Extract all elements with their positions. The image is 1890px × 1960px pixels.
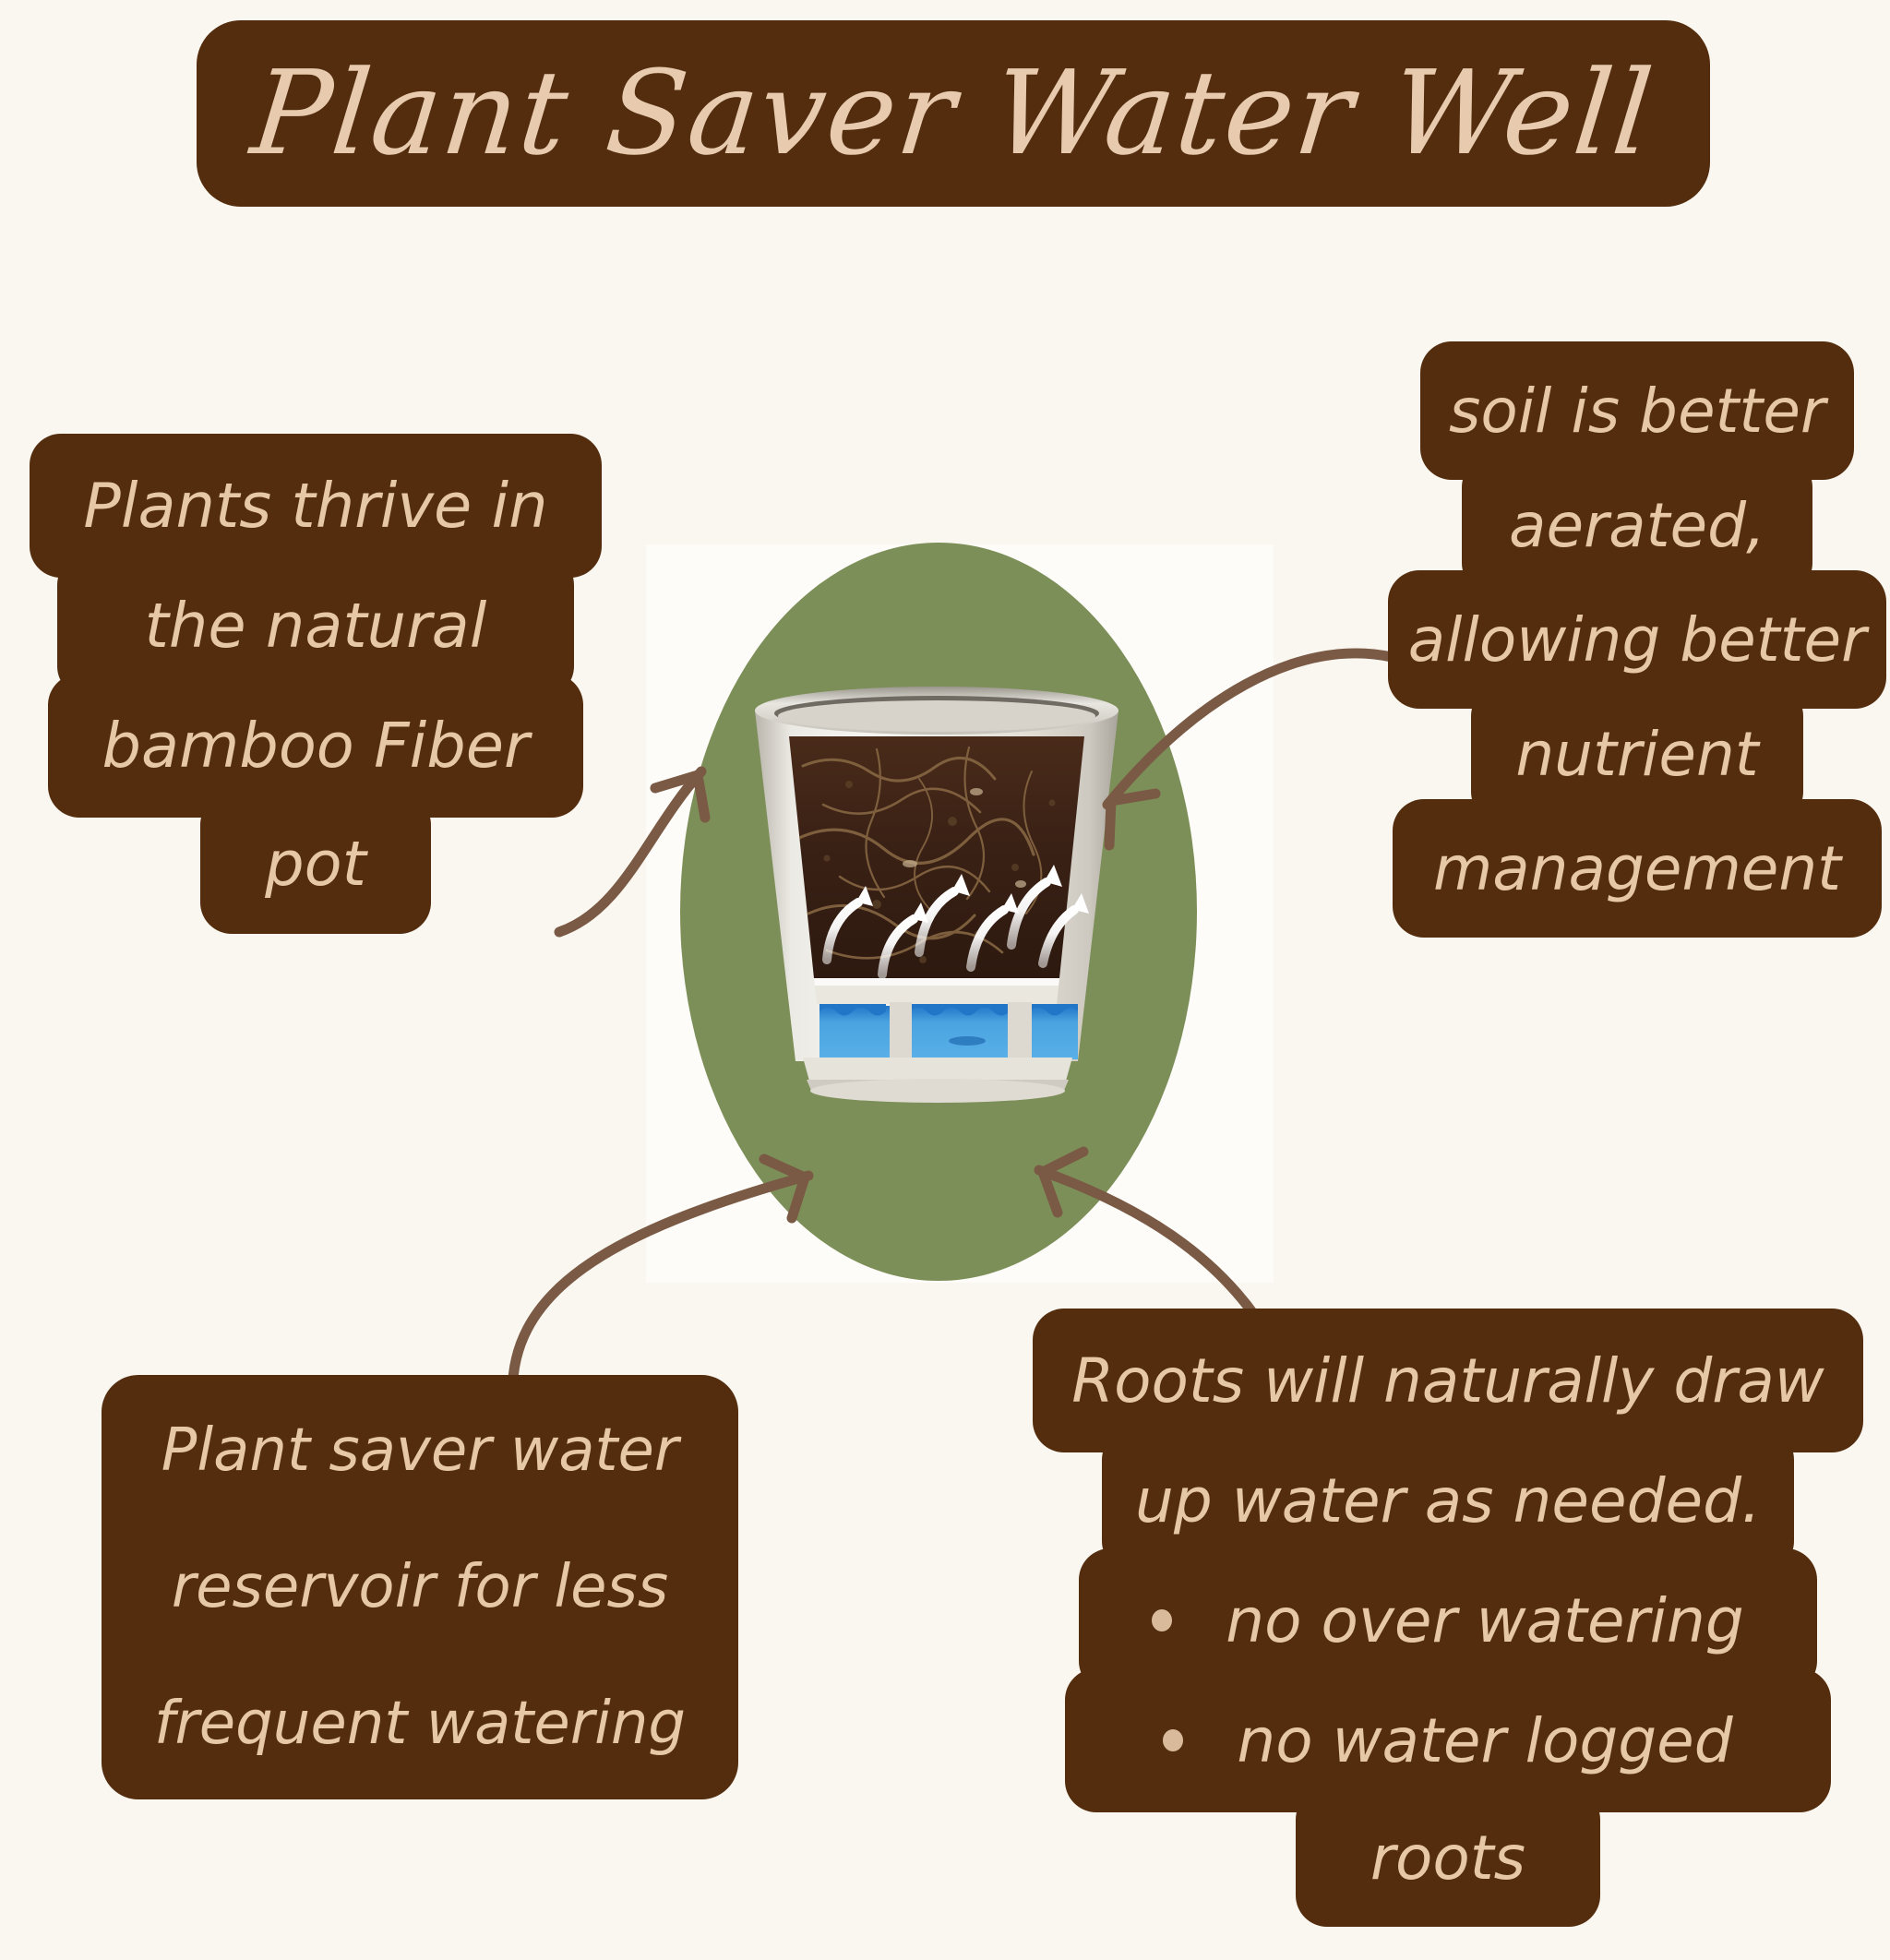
callout-bottomleft-line-1: Plant saver water xyxy=(102,1382,738,1519)
bullet-dot-icon xyxy=(1163,1729,1183,1751)
pot-illustration xyxy=(738,683,1135,1117)
water-reservoir xyxy=(819,1002,1078,1061)
callout-left-line-4: pot xyxy=(200,794,431,934)
pot-cutaway-svg xyxy=(738,683,1135,1117)
water-reservoir-callout[interactable]: Plant saver water reservoir for less fre… xyxy=(102,1375,738,1799)
bamboo-fiber-pot-callout[interactable]: Plants thrive in the natural bamboo Fibe… xyxy=(20,434,611,934)
soil-aeration-callout[interactable]: soil is better aerated, allowing better … xyxy=(1384,341,1890,938)
callout-bullet-2-wrap: roots xyxy=(1296,1788,1600,1927)
callout-bullet-2-label: no water logged xyxy=(1237,1705,1732,1776)
callout-bullet-1-label: no over watering xyxy=(1226,1585,1743,1656)
callout-bottomleft-line-2: reservoir for less xyxy=(102,1519,738,1655)
callout-topright-line-5: management xyxy=(1393,799,1882,938)
page-title: Plant Saver Water Well xyxy=(247,55,1659,172)
roots-draw-water-callout[interactable]: Roots will naturally draw up water as ne… xyxy=(1006,1309,1890,1927)
callout-bottomleft-line-3: frequent watering xyxy=(102,1655,738,1792)
bullet-dot-icon xyxy=(1152,1609,1172,1631)
infographic-canvas: Plant Saver Water Well xyxy=(0,0,1890,1960)
title-banner: Plant Saver Water Well xyxy=(197,20,1710,207)
